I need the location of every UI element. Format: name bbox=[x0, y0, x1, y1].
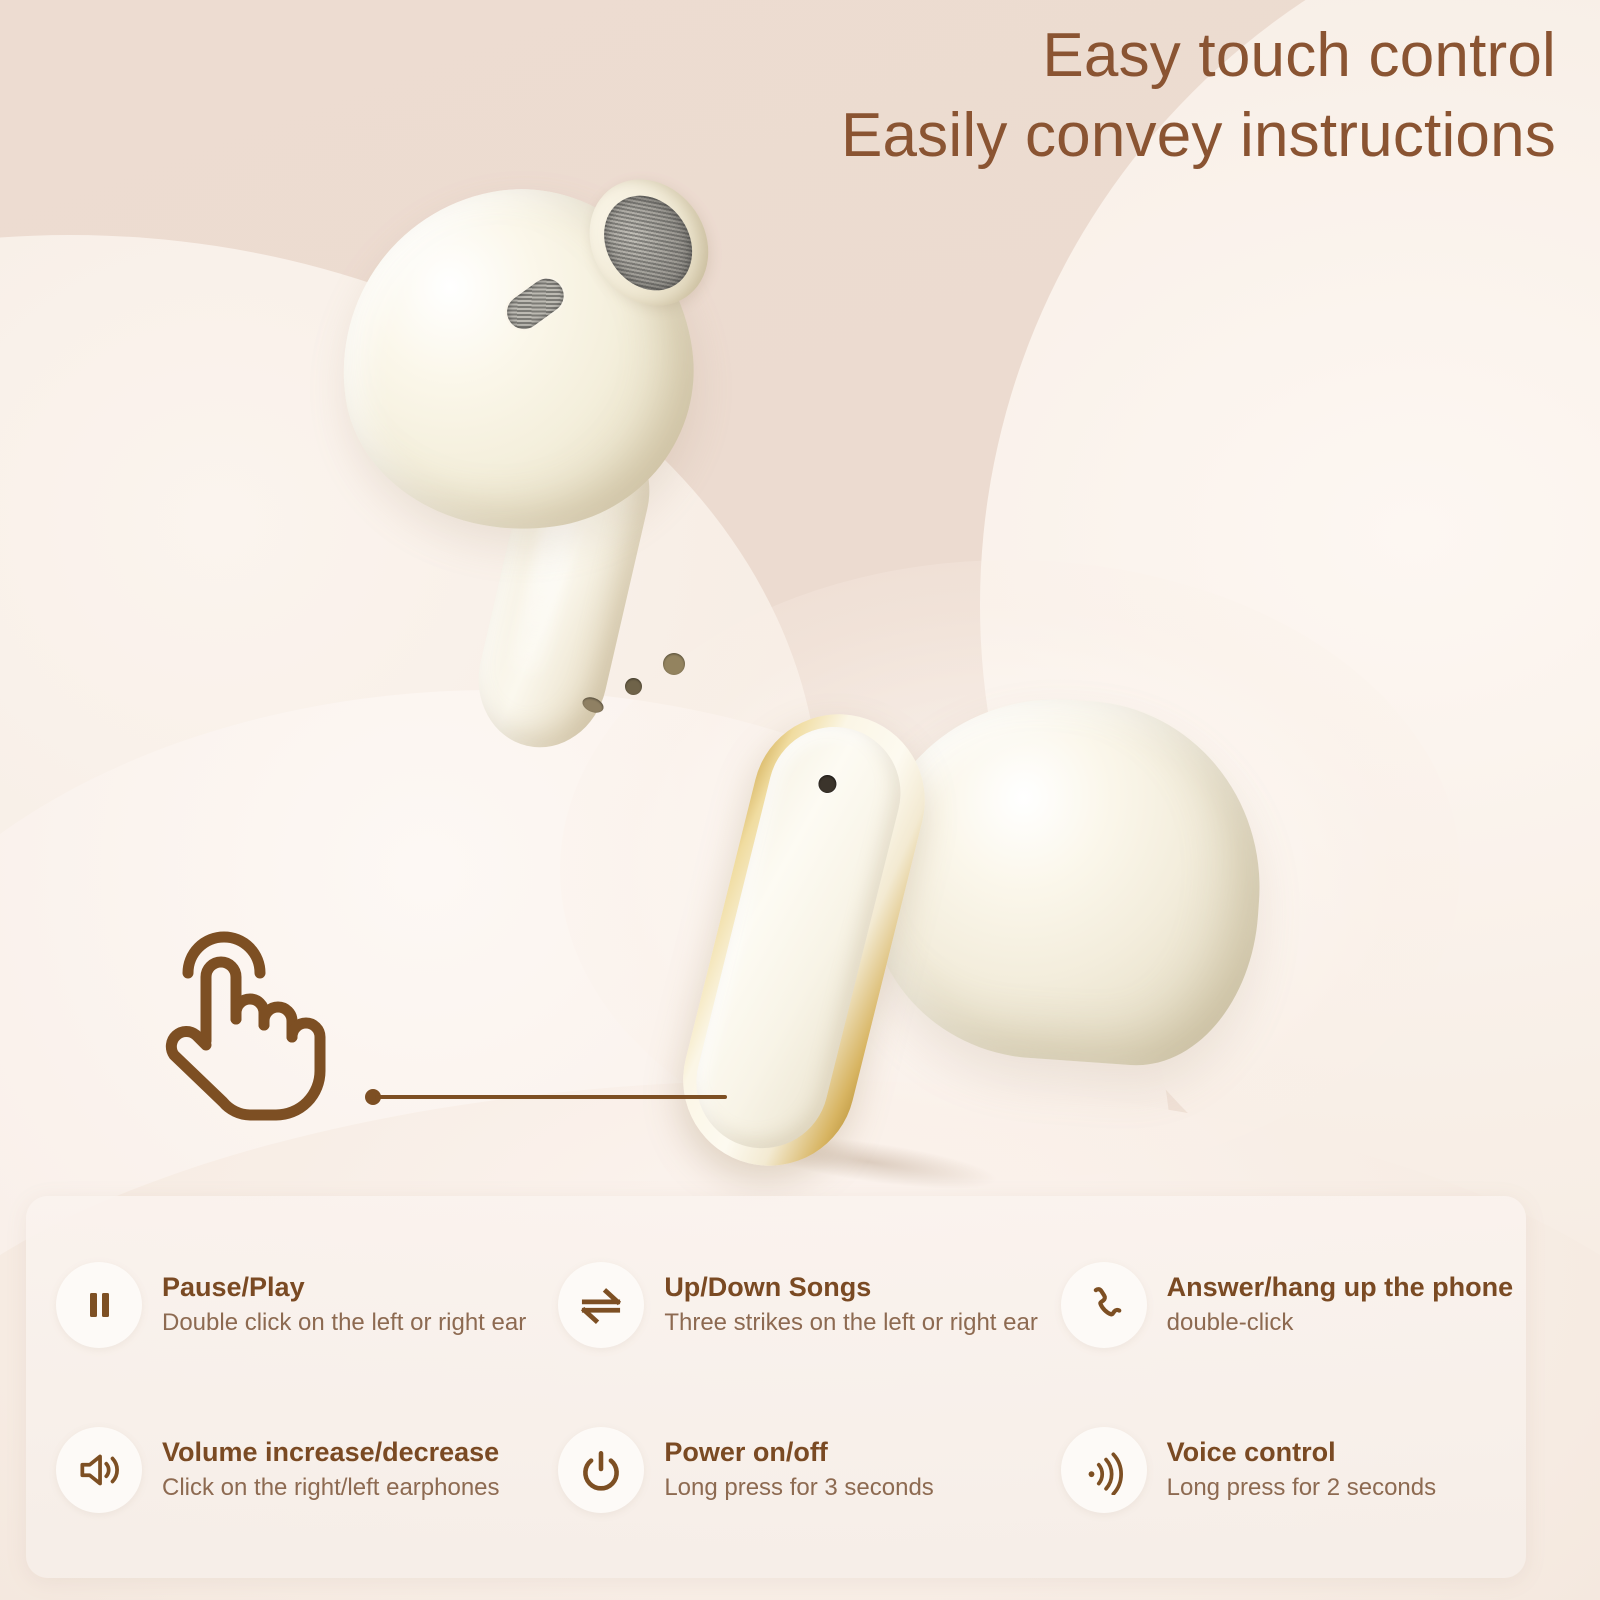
feature-text: Power on/off Long press for 3 seconds bbox=[664, 1436, 934, 1503]
speaker-mesh-icon bbox=[586, 179, 710, 308]
feature-item-up-down-songs[interactable]: Up/Down Songs Three strikes on the left … bbox=[554, 1222, 1056, 1387]
feature-title: Power on/off bbox=[664, 1436, 934, 1468]
headline: Easy touch control Easily convey instruc… bbox=[841, 18, 1556, 173]
earbud-bottom-body bbox=[858, 687, 1272, 1073]
feature-text: Volume increase/decrease Click on the ri… bbox=[162, 1436, 500, 1503]
headline-line-2: Easily convey instructions bbox=[841, 98, 1556, 174]
earbud-top-mic-hole-2 bbox=[625, 678, 642, 695]
earbud-top-mic-hole-3 bbox=[663, 653, 685, 675]
phone-handset-icon bbox=[1061, 1262, 1147, 1348]
feature-text: Answer/hang up the phone double-click bbox=[1167, 1271, 1514, 1338]
feature-title: Up/Down Songs bbox=[664, 1271, 1038, 1303]
swap-arrows-icon bbox=[558, 1262, 644, 1348]
feature-text: Up/Down Songs Three strikes on the left … bbox=[664, 1271, 1038, 1338]
feature-desc: Long press for 3 seconds bbox=[664, 1473, 934, 1503]
feature-item-power[interactable]: Power on/off Long press for 3 seconds bbox=[554, 1387, 1056, 1552]
feature-item-pause-play[interactable]: Pause/Play Double click on the left or r… bbox=[52, 1222, 554, 1387]
feature-desc: Click on the right/left earphones bbox=[162, 1473, 500, 1503]
feature-item-volume[interactable]: Volume increase/decrease Click on the ri… bbox=[52, 1387, 554, 1552]
earbud-top-vent-mesh bbox=[500, 272, 570, 336]
feature-grid: Pause/Play Double click on the left or r… bbox=[26, 1196, 1526, 1578]
feature-item-voice-control[interactable]: Voice control Long press for 2 seconds bbox=[1057, 1387, 1508, 1552]
feature-title: Pause/Play bbox=[162, 1271, 526, 1303]
feature-desc: double-click bbox=[1167, 1308, 1514, 1338]
earbud-bottom bbox=[700, 690, 1270, 1210]
feature-text: Pause/Play Double click on the left or r… bbox=[162, 1271, 526, 1338]
power-icon bbox=[558, 1427, 644, 1513]
product-infographic: Easy touch control Easily convey instruc… bbox=[0, 0, 1600, 1600]
feature-desc: Double click on the left or right ear bbox=[162, 1308, 526, 1338]
callout-leader-stroke bbox=[375, 1095, 727, 1099]
touch-tap-hand-icon bbox=[158, 925, 333, 1125]
earbud-top bbox=[330, 190, 750, 770]
earbud-top-body bbox=[320, 167, 714, 552]
feature-title: Volume increase/decrease bbox=[162, 1436, 500, 1468]
callout-leader-line bbox=[365, 1093, 727, 1101]
feature-text: Voice control Long press for 2 seconds bbox=[1167, 1436, 1437, 1503]
feature-title: Answer/hang up the phone bbox=[1167, 1271, 1514, 1303]
voice-broadcast-icon bbox=[1061, 1427, 1147, 1513]
feature-item-answer-hangup[interactable]: Answer/hang up the phone double-click bbox=[1057, 1222, 1508, 1387]
feature-desc: Long press for 2 seconds bbox=[1167, 1473, 1437, 1503]
feature-title: Voice control bbox=[1167, 1436, 1437, 1468]
feature-desc: Three strikes on the left or right ear bbox=[664, 1308, 1038, 1338]
headline-line-1: Easy touch control bbox=[841, 18, 1556, 94]
speaker-volume-icon bbox=[56, 1427, 142, 1513]
pause-play-icon bbox=[56, 1262, 142, 1348]
feature-panel: Pause/Play Double click on the left or r… bbox=[26, 1196, 1526, 1578]
